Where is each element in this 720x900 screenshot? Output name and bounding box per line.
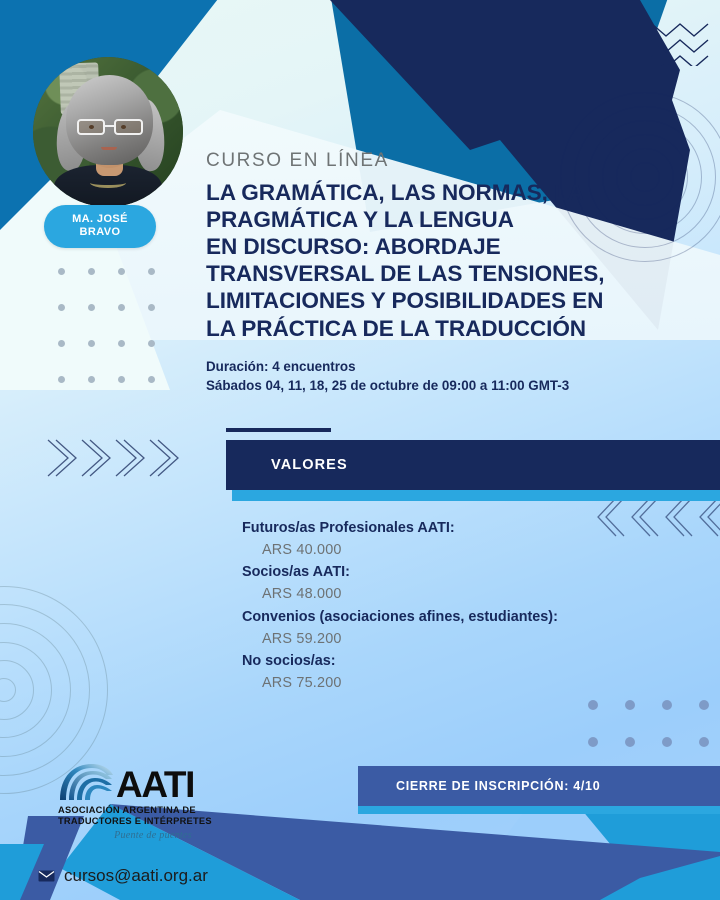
- photo-mouth: [101, 147, 118, 150]
- logo-subtitle: ASOCIACIÓN ARGENTINA DE TRADUCTORES E IN…: [58, 805, 248, 828]
- price-label-text: Socios/as AATI: [242, 564, 345, 580]
- speaker-name-line1: MA. JOSÉ: [62, 213, 138, 226]
- course-schedule: Sábados 04, 11, 18, 25 de octubre de 09:…: [206, 376, 706, 395]
- valores-banner-label: VALORES: [226, 457, 348, 473]
- poster-canvas: MA. JOSÉ BRAVO CURSO EN LÍNEA LA GRAMÁTI…: [0, 0, 720, 900]
- price-value: ARS 48.000: [242, 584, 682, 605]
- logo-subtitle-line1: ASOCIACIÓN ARGENTINA DE: [58, 805, 248, 816]
- title-line-5: LIMITACIONES Y POSIBILIDADES EN: [206, 287, 706, 314]
- title-line-1: LA GRAMÁTICA, LAS NORMAS, LA: [206, 179, 706, 206]
- speaker-name-badge: MA. JOSÉ BRAVO: [44, 205, 156, 248]
- course-eyebrow: CURSO EN LÍNEA: [206, 150, 706, 172]
- list-item: Futuros/as Profesionales AATI: ARS 40.00…: [242, 518, 682, 560]
- speaker-photo: [33, 57, 183, 207]
- chevrons-right-icon: [44, 434, 184, 482]
- header-block: CURSO EN LÍNEA LA GRAMÁTICA, LAS NORMAS,…: [206, 150, 706, 396]
- price-label-text: No socios/as: [242, 653, 331, 669]
- valores-tick-rule: [226, 428, 331, 432]
- price-value: ARS 40.000: [242, 540, 682, 561]
- title-line-3: EN DISCURSO: ABORDAJE: [206, 233, 706, 260]
- dot-grid-icon-left: [58, 268, 178, 412]
- photo-eyeglasses: [77, 119, 143, 136]
- title-line-4: TRANSVERSAL DE LAS TENSIONES,: [206, 260, 706, 287]
- avatar: [33, 57, 183, 207]
- price-label-colon: :: [345, 564, 350, 580]
- price-label: No socios/as:: [242, 651, 682, 673]
- price-label-colon: :: [450, 520, 455, 536]
- price-label: Socios/as AATI:: [242, 562, 682, 584]
- deadline-text: CIERRE DE INSCRIPCIÓN: 4/10: [358, 779, 600, 793]
- logo-tagline: Puente de puentes: [58, 830, 248, 841]
- dot-grid-icon-bottom-right-upper: [588, 700, 720, 774]
- price-label-text: Futuros/as Profesionales AATI: [242, 520, 450, 536]
- course-meta: Duración: 4 encuentros Sábados 04, 11, 1…: [206, 357, 706, 396]
- logo-wordmark: AATI: [116, 768, 194, 802]
- course-duration: Duración: 4 encuentros: [206, 357, 706, 376]
- logo-subtitle-line2: TRADUCTORES E INTÉRPRETES: [58, 816, 248, 827]
- price-label: Convenios (asociaciones afines, estudian…: [242, 607, 682, 629]
- price-label-colon: :: [331, 653, 336, 669]
- price-value: ARS 59.200: [242, 629, 682, 650]
- dot-grid-icon-bottom-right-lower: [588, 835, 662, 872]
- price-list: Futuros/as Profesionales AATI: ARS 40.00…: [242, 518, 682, 696]
- deadline-banner-accent: [358, 805, 720, 814]
- list-item: Convenios (asociaciones afines, estudian…: [242, 607, 682, 649]
- list-item: Socios/as AATI: ARS 48.000: [242, 562, 682, 604]
- price-label: Futuros/as Profesionales AATI:: [242, 518, 682, 540]
- zigzag-waves-icon: [650, 14, 710, 66]
- speaker-name-line2: BRAVO: [62, 226, 138, 239]
- valores-banner: VALORES: [226, 440, 720, 490]
- concentric-rings-icon-left: [0, 590, 104, 790]
- contact-email-text: cursos@aati.org.ar: [64, 866, 208, 886]
- price-label-colon: :: [553, 609, 558, 625]
- contact-email[interactable]: cursos@aati.org.ar: [38, 866, 208, 886]
- price-value: ARS 75.200: [242, 673, 682, 694]
- aati-logo: AATI ASOCIACIÓN ARGENTINA DE TRADUCTORES…: [58, 762, 248, 841]
- list-item: No socios/as: ARS 75.200: [242, 651, 682, 693]
- price-label-text: Convenios (asociaciones afines, estudian…: [242, 609, 553, 625]
- aati-bridge-wave-logo-icon: [58, 762, 114, 802]
- page-title: LA GRAMÁTICA, LAS NORMAS, LA PRAGMÁTICA …: [206, 179, 706, 342]
- photo-necklace: [90, 177, 126, 188]
- deadline-banner: CIERRE DE INSCRIPCIÓN: 4/10: [358, 766, 720, 806]
- envelope-icon: [38, 870, 55, 882]
- title-line-2: PRAGMÁTICA Y LA LENGUA: [206, 206, 706, 233]
- title-line-6: LA PRÁCTICA DE LA TRADUCCIÓN: [206, 315, 706, 342]
